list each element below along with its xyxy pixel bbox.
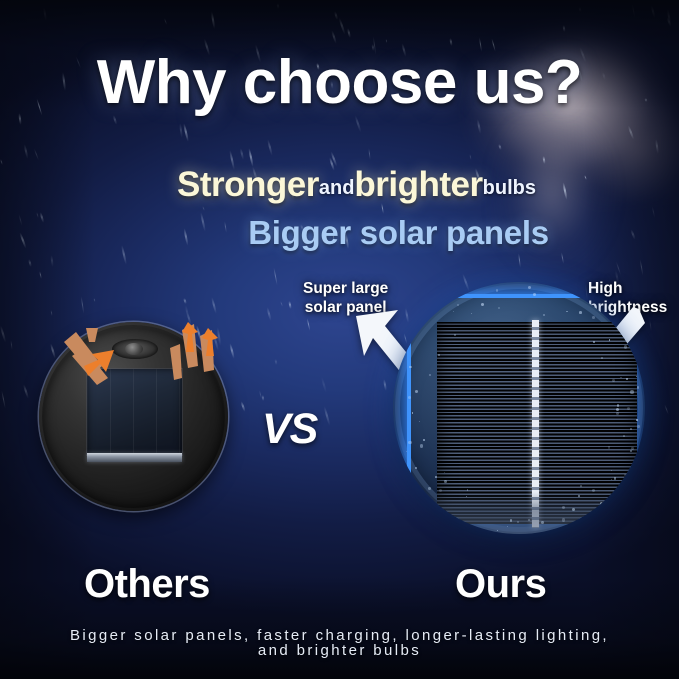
callout-right-line-1: High	[588, 279, 667, 298]
footer-caption: Bigger solar panels, faster charging, lo…	[0, 628, 679, 659]
ours-base-shade	[393, 492, 645, 534]
subheadline-brighter: brighter	[354, 165, 482, 204]
subheadline-and: and	[319, 177, 355, 199]
page-title: Why choose us?	[0, 47, 679, 118]
infographic-canvas: Why choose us? Strongerandbrighterbulbs …	[0, 0, 679, 679]
product-label-ours: Ours	[455, 562, 546, 607]
others-light-bar	[87, 453, 182, 462]
subheadline-stronger: Stronger	[177, 165, 319, 204]
shrink-arrow-right-icon	[152, 322, 224, 386]
ours-led-glow-bezel	[411, 298, 627, 516]
footer-caption-line-2: and brighter bulbs	[0, 643, 679, 658]
subheadline-line-1: Strongerandbrighterbulbs	[0, 165, 679, 205]
product-label-others: Others	[84, 562, 210, 607]
subheadline-bulbs: bulbs	[483, 177, 536, 199]
subheadline-line-2: Bigger solar panels	[0, 214, 679, 252]
product-image-ours	[393, 282, 645, 534]
versus-label: VS	[262, 405, 317, 454]
shrink-arrow-left-icon	[62, 326, 134, 388]
callout-left-line-1: Super large	[303, 279, 388, 298]
